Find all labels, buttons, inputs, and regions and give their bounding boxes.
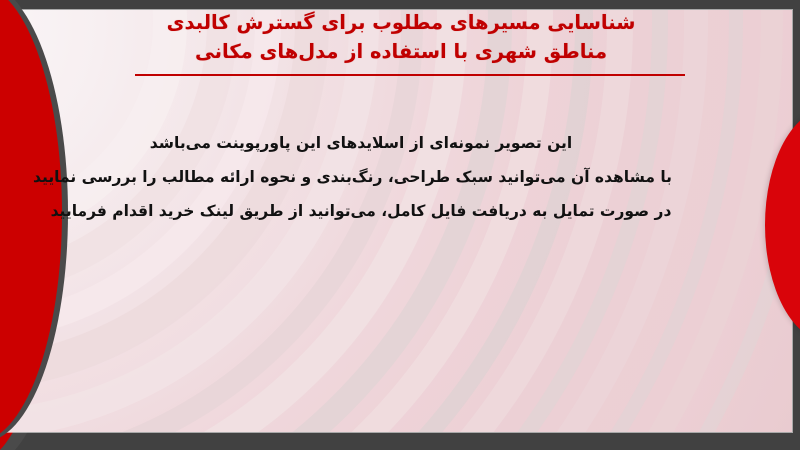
slide-body-text: این تصویر نمونه‌ای از اسلایدهای این پاور… (50, 126, 672, 228)
slide-title: شناسایی مسیرهای مطلوب برای گسترش کالبدی … (120, 8, 682, 66)
slide-canvas: شناسایی مسیرهای مطلوب برای گسترش کالبدی … (0, 0, 800, 450)
title-underline-rule (135, 74, 685, 76)
body-line-2: با مشاهده آن می‌توانید سبک طراحی، رنگ‌بن… (50, 160, 672, 194)
body-line-1: این تصویر نمونه‌ای از اسلایدهای این پاور… (50, 126, 672, 160)
body-line-3: در صورت تمایل به دریافت فایل کامل، می‌تو… (50, 194, 672, 228)
slide-text-content: شناسایی مسیرهای مطلوب برای گسترش کالبدی … (0, 0, 800, 450)
